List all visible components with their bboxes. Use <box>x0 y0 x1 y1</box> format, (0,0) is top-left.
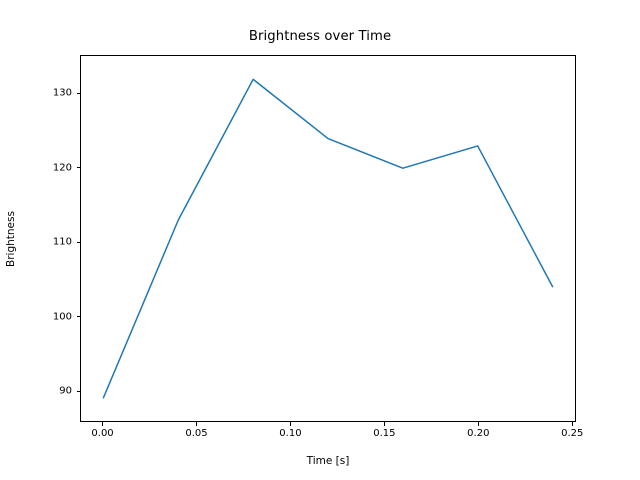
y-tick-mark <box>77 93 81 94</box>
x-tick-mark <box>290 422 291 426</box>
x-tick-label: 0.25 <box>561 428 583 439</box>
y-tick-label: 100 <box>20 311 72 322</box>
x-tick-mark <box>384 422 385 426</box>
x-axis-label: Time [s] <box>80 455 576 467</box>
x-tick-label: 0.20 <box>467 428 489 439</box>
y-axis-label: Brightness <box>0 55 22 422</box>
y-tick-label: 90 <box>20 386 72 397</box>
y-tick-mark <box>77 167 81 168</box>
figure-canvas: Brightness over Time Brightness 90100110… <box>0 0 640 480</box>
x-tick-label: 0.10 <box>279 428 301 439</box>
y-tick-label: 120 <box>20 162 72 173</box>
x-tick-mark <box>102 422 103 426</box>
y-axis-label-text: Brightness <box>5 211 17 267</box>
x-tick-label: 0.15 <box>373 428 395 439</box>
y-tick-mark <box>77 316 81 317</box>
y-tick-mark <box>77 391 81 392</box>
x-tick-mark <box>478 422 479 426</box>
plot-axes <box>80 55 576 422</box>
y-tick-label: 130 <box>20 88 72 99</box>
x-tick-mark <box>196 422 197 426</box>
x-tick-label: 0.05 <box>185 428 207 439</box>
x-tick-mark <box>572 422 573 426</box>
line-plot-svg <box>81 56 575 421</box>
data-series-line <box>103 79 552 397</box>
y-tick-mark <box>77 242 81 243</box>
x-tick-label: 0.00 <box>91 428 113 439</box>
y-tick-label: 110 <box>20 237 72 248</box>
chart-title: Brightness over Time <box>0 29 640 44</box>
